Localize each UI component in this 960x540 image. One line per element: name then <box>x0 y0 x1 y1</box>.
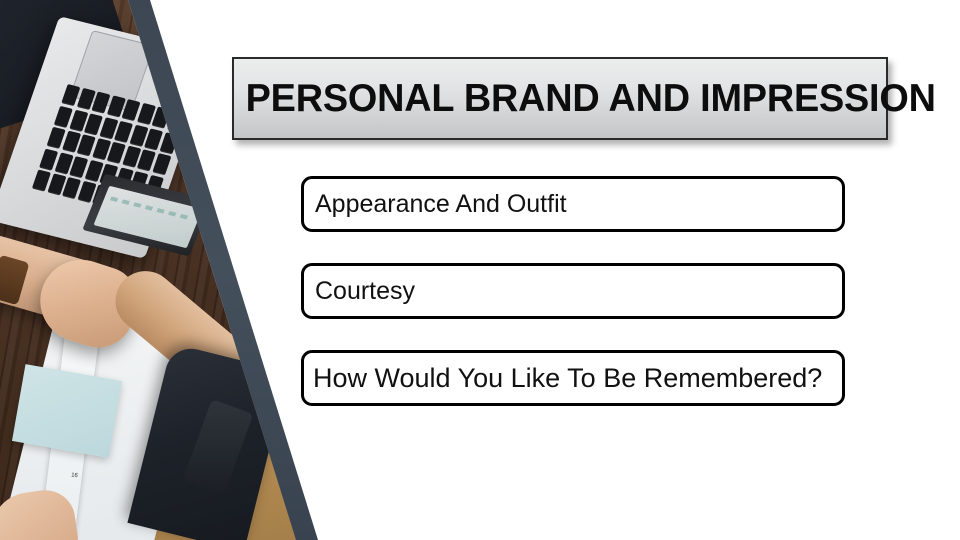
bullet-item-how-would-you-like-to-be-remembered[interactable]: How Would You Like To Be Remembered? <box>301 350 845 406</box>
bullet-item-label: Courtesy <box>304 277 415 306</box>
bullet-item-label: How Would You Like To Be Remembered? <box>304 363 822 394</box>
page-title: PERSONAL BRAND AND IMPRESSION <box>234 77 936 121</box>
slide-title-box: PERSONAL BRAND AND IMPRESSION <box>232 57 888 140</box>
presentation-slide: 2 9 16 23 PERSONAL BRAND AND IMPRESSION … <box>0 0 960 540</box>
blue-paper-sheet <box>12 364 122 458</box>
bullet-item-appearance-and-outfit[interactable]: Appearance And Outfit <box>301 176 845 232</box>
bullet-item-label: Appearance And Outfit <box>304 190 567 219</box>
ruler-mark: 16 <box>71 473 78 480</box>
bullet-item-courtesy[interactable]: Courtesy <box>301 263 845 319</box>
